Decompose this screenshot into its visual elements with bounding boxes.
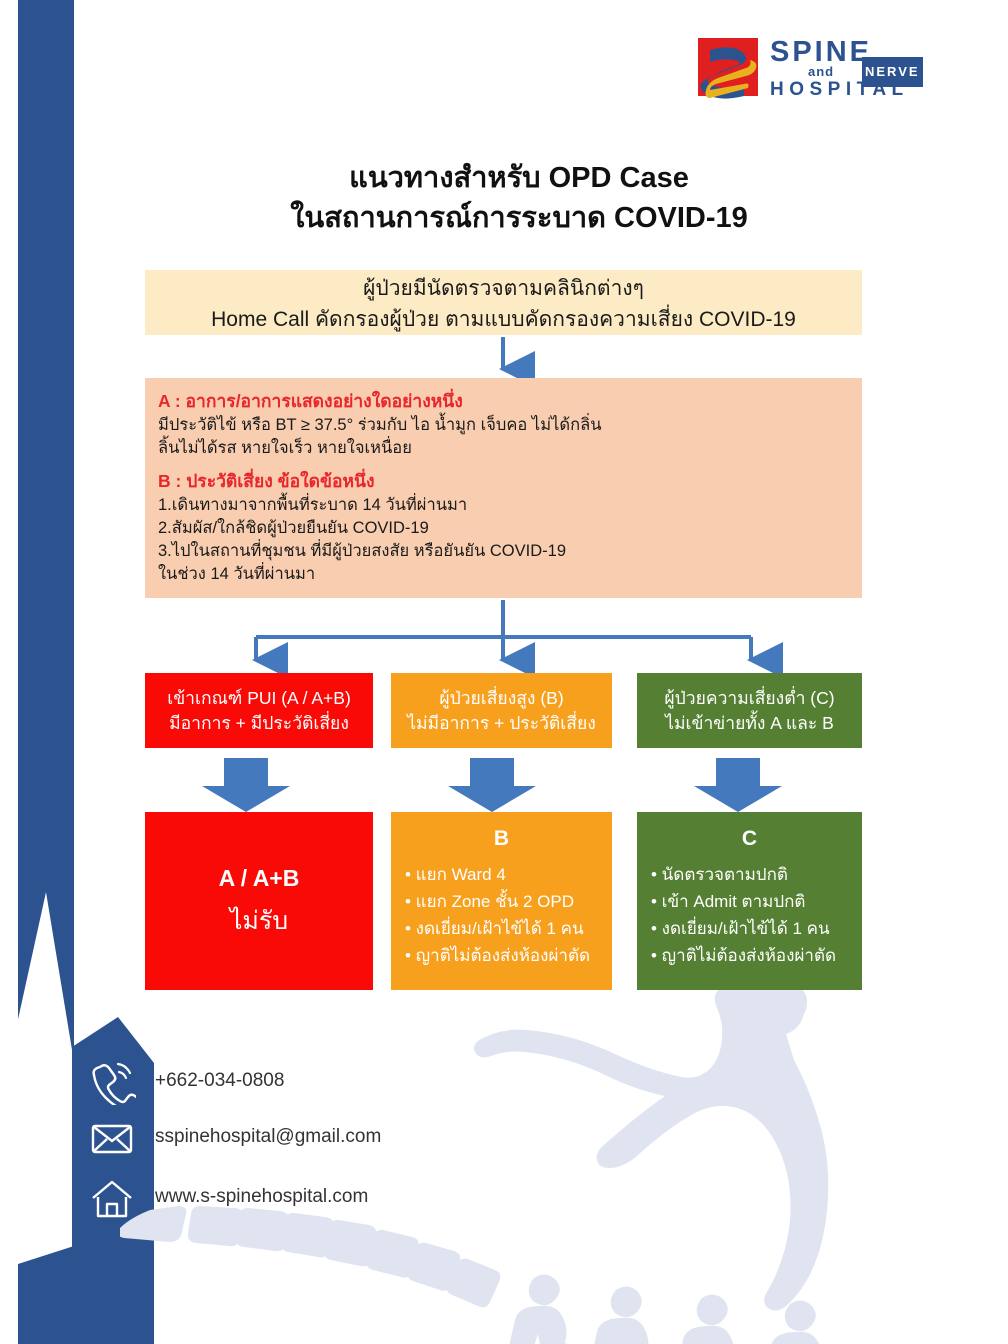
hospital-logo: SPINE and NERVE HOSPITAL [698, 34, 926, 104]
intake-line-2: Home Call คัดกรองผู้ป่วย ตามแบบคัดกรองคว… [145, 304, 862, 335]
list-item: • ญาติไม่ต้องส่งห้องผ่าตัด [651, 942, 862, 969]
title-line-1: แนวทางสำหรับ OPD Case [30, 158, 1008, 198]
contact-website[interactable]: www.s-spinehospital.com [155, 1186, 368, 1208]
category-pui-line-1: เข้าเกณฑ์ PUI (A / A+B) [167, 686, 351, 711]
criteria-box: A : อาการ/อาการแสดงอย่างใดอย่างหนึ่ง มีป… [145, 378, 862, 598]
category-box-high-risk: ผู้ป่วยเสี่ยงสูง (B) ไม่มีอาการ + ประวัต… [391, 673, 612, 748]
criteria-b-line-4: ในช่วง 14 วันที่ผ่านมา [158, 563, 862, 586]
list-item: • แยก Zone ชั้น 2 OPD [405, 888, 612, 915]
list-item: • แยก Ward 4 [405, 861, 612, 888]
criteria-a-line-1: มีประวัติไข้ หรือ BT ≥ 37.5° ร่วมกับ ไอ … [158, 414, 862, 437]
list-item: • งดเยี่ยม/เฝ้าไข้ได้ 1 คน [651, 915, 862, 942]
home-icon [88, 1175, 136, 1223]
outcome-a-verdict: ไม่รับ [230, 901, 288, 941]
outcome-c-list: • นัดตรวจตามปกติ • เข้า Admit ตามปกติ • … [637, 861, 862, 969]
logo-and-text: and [808, 58, 834, 86]
category-box-low-risk: ผู้ป่วยความเสี่ยงต่ำ (C) ไม่เข้าข่ายทั้ง… [637, 673, 862, 748]
list-item: • นัดตรวจตามปกติ [651, 861, 862, 888]
criteria-a-line-2: ลิ้นไม่ได้รส หายใจเร็ว หายใจเหนื่อย [158, 437, 862, 460]
list-item: • งดเยี่ยม/เฝ้าไข้ได้ 1 คน [405, 915, 612, 942]
athlete-silhouette-artwork [120, 980, 1008, 1344]
category-low-risk-line-1: ผู้ป่วยความเสี่ยงต่ำ (C) [664, 686, 834, 711]
outcome-c-title: C [637, 824, 862, 854]
page-title: แนวทางสำหรับ OPD Case ในสถานการณ์การระบา… [0, 158, 1008, 238]
outcome-b-title: B [391, 824, 612, 854]
outcome-box-c: C • นัดตรวจตามปกติ • เข้า Admit ตามปกติ … [637, 812, 862, 990]
outcome-b-list: • แยก Ward 4 • แยก Zone ชั้น 2 OPD • งดเ… [391, 861, 612, 969]
outcome-box-b: B • แยก Ward 4 • แยก Zone ชั้น 2 OPD • ง… [391, 812, 612, 990]
outcome-box-a: A / A+B ไม่รับ [145, 812, 373, 990]
intake-box: ผู้ป่วยมีนัดตรวจตามคลินิกต่างๆ Home Call… [145, 270, 862, 335]
logo-line-spine: SPINE and NERVE [770, 38, 909, 66]
category-box-pui: เข้าเกณฑ์ PUI (A / A+B) มีอาการ + มีประว… [145, 673, 373, 748]
list-item: • เข้า Admit ตามปกติ [651, 888, 862, 915]
criteria-a-heading: A : อาการ/อาการแสดงอย่างใดอย่างหนึ่ง [158, 389, 862, 414]
title-line-2: ในสถานการณ์การระบาด COVID-19 [30, 198, 1008, 238]
outcome-a-title: A / A+B [219, 861, 300, 895]
footer-ribbon-stub [18, 1246, 74, 1344]
criteria-b-heading: B : ประวัติเสี่ยง ข้อใดข้อหนึ่ง [158, 469, 862, 494]
spine-nerve-logo-mark [698, 38, 766, 100]
contact-phone[interactable]: +662-034-0808 [155, 1070, 284, 1092]
envelope-icon [88, 1115, 136, 1163]
criteria-b-line-1: 1.เดินทางมาจากพื้นที่ระบาด 14 วันที่ผ่าน… [158, 494, 862, 517]
criteria-b-line-3: 3.ไปในสถานที่ชุมชน ที่มีผู้ป่วยสงสัย หรื… [158, 540, 862, 563]
phone-icon [88, 1057, 136, 1105]
intake-line-1: ผู้ป่วยมีนัดตรวจตามคลินิกต่างๆ [145, 273, 862, 304]
criteria-b-line-2: 2.สัมผัส/ใกล้ชิดผู้ป่วยยืนยัน COVID-19 [158, 517, 862, 540]
list-item: • ญาติไม่ต้องส่งห้องผ่าตัด [405, 942, 612, 969]
category-pui-line-2: มีอาการ + มีประวัติเสี่ยง [169, 711, 349, 736]
category-high-risk-line-1: ผู้ป่วยเสี่ยงสูง (B) [439, 686, 563, 711]
category-high-risk-line-2: ไม่มีอาการ + ประวัติเสี่ยง [407, 711, 596, 736]
contact-email[interactable]: sspinehospital@gmail.com [155, 1126, 381, 1148]
category-low-risk-line-2: ไม่เข้าข่ายทั้ง A และ B [665, 711, 834, 736]
logo-nerve-text: NERVE [862, 57, 923, 87]
